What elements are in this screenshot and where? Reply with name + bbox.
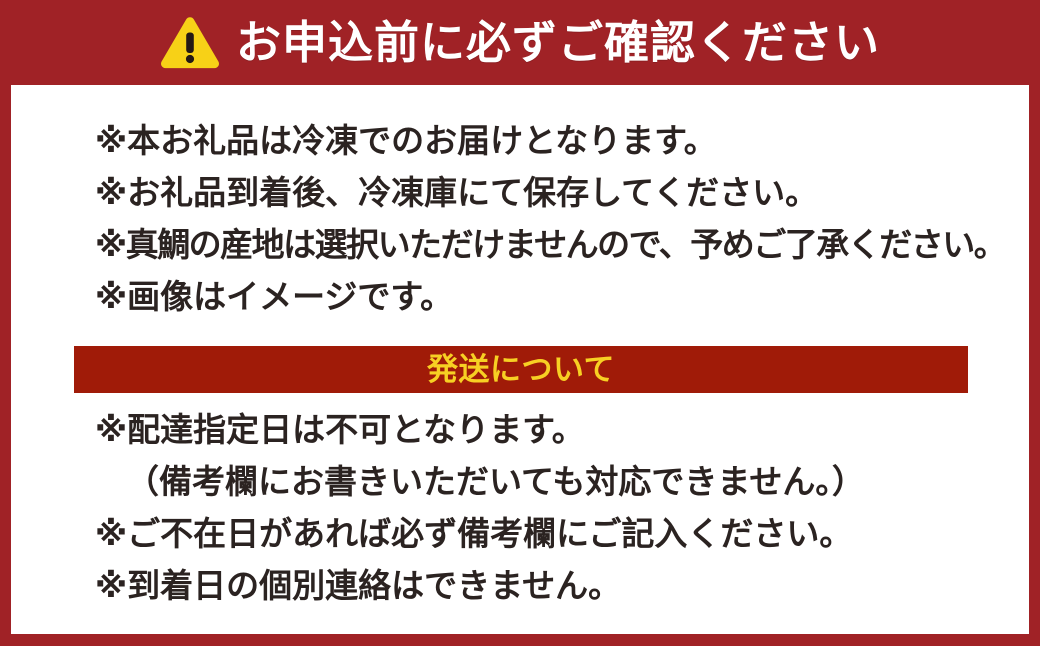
note-item: ※配達指定日は不可となります。 (95, 404, 1025, 456)
note-item: ※ご不在日があれば必ず備考欄にご記入ください。 (95, 508, 1025, 560)
notes-top-list: ※本お礼品は冷凍でのお届けとなります。 ※お礼品到着後、冷凍庫にて保存してくださ… (95, 115, 1025, 323)
note-item: （備考欄にお書きいただいても対応できません。） (95, 456, 1025, 508)
content-panel: ※本お礼品は冷凍でのお届けとなります。 ※お礼品到着後、冷凍庫にて保存してくださ… (11, 85, 1029, 634)
note-item: ※本お礼品は冷凍でのお届けとなります。 (95, 115, 1025, 167)
page-title: お申込前に必ずご確認ください (236, 20, 880, 65)
note-item: ※到着日の個別連絡はできません。 (95, 560, 1025, 612)
notice-poster: お申込前に必ずご確認ください ※本お礼品は冷凍でのお届けとなります。 ※お礼品到… (0, 0, 1040, 646)
note-item: ※画像はイメージです。 (95, 271, 1025, 323)
shipping-section-title: 発送について (427, 354, 615, 385)
shipping-section-banner: 発送について (74, 346, 968, 393)
notes-bottom-list: ※配達指定日は不可となります。 （備考欄にお書きいただいても対応できません。） … (95, 404, 1025, 612)
note-item: ※お礼品到着後、冷凍庫にて保存してください。 (95, 167, 1025, 219)
note-item: ※真鯛の産地は選択いただけませんので、予めご了承ください。 (95, 219, 1025, 271)
header-banner: お申込前に必ずご確認ください (0, 0, 1040, 85)
warning-triangle-icon (160, 16, 220, 70)
